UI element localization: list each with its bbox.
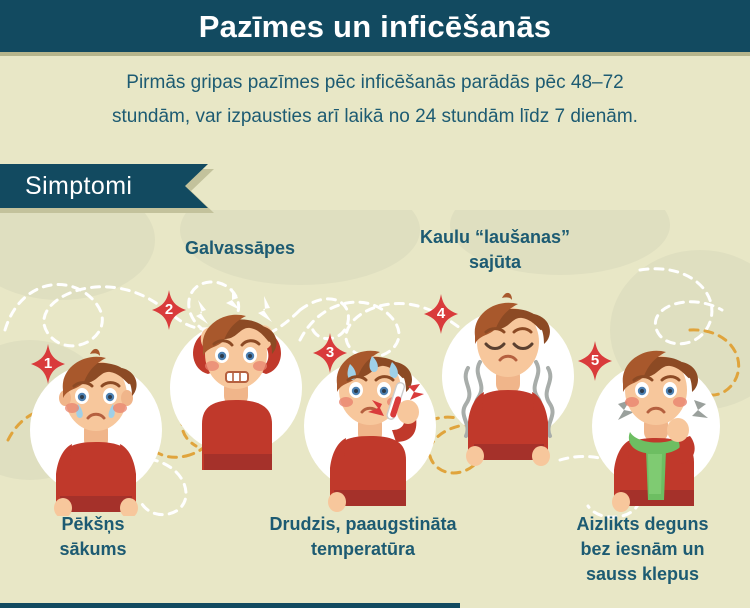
symptom-caption-4-line1: Kaulu “laušanas” — [380, 225, 610, 250]
symptom-badge-3-number: 3 — [313, 333, 347, 373]
symptom-caption-4-line2: sajūta — [380, 250, 610, 275]
symptom-caption-1-line2: sākums — [8, 537, 178, 562]
symptom-badge-3: 3 — [313, 333, 347, 373]
intro-line-1: Pirmās gripas pazīmes pēc inficēšanās pa… — [0, 66, 750, 100]
bottom-rule — [0, 603, 460, 608]
symptom-badge-5-number: 5 — [578, 341, 612, 381]
symptom-badge-2-number: 2 — [152, 290, 186, 330]
page-title: Pazīmes un inficēšanās — [199, 11, 551, 42]
symptom-badge-4-number: 4 — [424, 294, 458, 334]
symptom-caption-4: Kaulu “laušanas” sajūta — [380, 225, 610, 275]
symptom-caption-1-line1: Pēkšņs — [8, 512, 178, 537]
ribbon-label: Simptomi — [25, 174, 132, 199]
symptom-caption-5-line2: bez iesnām un — [540, 537, 745, 562]
symptom-caption-1: Pēkšņs sākums — [8, 512, 178, 562]
symptom-caption-3-line1: Drudzis, paaugstināta — [228, 512, 498, 537]
symptom-badge-4: 4 — [424, 294, 458, 334]
intro-line-2: stundām, var izpausties arī laikā no 24 … — [0, 100, 750, 134]
symptom-caption-2-line1: Galvassāpes — [150, 236, 330, 261]
ribbon-body: Simptomi — [0, 164, 208, 208]
symptom-caption-5: Aizlikts deguns bez iesnām un sauss klep… — [540, 512, 745, 587]
page-header: Pazīmes un inficēšanās — [0, 0, 750, 52]
symptom-caption-3-line2: temperatūra — [228, 537, 498, 562]
intro-paragraph: Pirmās gripas pazīmes pēc inficēšanās pa… — [0, 66, 750, 134]
header-underline — [0, 52, 750, 56]
symptom-caption-3: Drudzis, paaugstināta temperatūra — [228, 512, 498, 562]
infographic-canvas: 1 — [0, 0, 750, 608]
simptomi-ribbon: Simptomi — [0, 164, 240, 212]
symptom-caption-2: Galvassāpes — [150, 236, 330, 261]
symptom-badge-2: 2 — [152, 290, 186, 330]
symptom-badge-5: 5 — [578, 341, 612, 381]
symptom-badge-1: 1 — [31, 344, 65, 384]
symptom-caption-5-line3: sauss klepus — [540, 562, 745, 587]
symptom-caption-5-line1: Aizlikts deguns — [540, 512, 745, 537]
symptom-badge-1-number: 1 — [31, 344, 65, 384]
